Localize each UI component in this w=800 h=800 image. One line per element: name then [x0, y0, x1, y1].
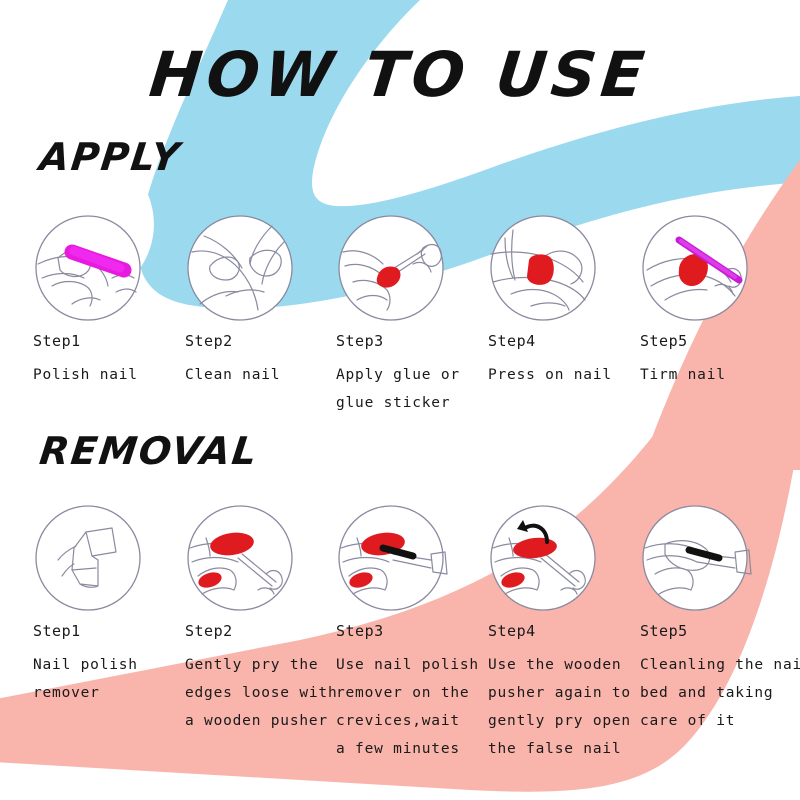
step-description: Gently pry the edges loose with a wooden… — [185, 651, 318, 736]
step-label: Step5 — [640, 623, 773, 640]
step-label: Step3 — [336, 623, 469, 640]
how-to-use-poster: HOW TO USE APPLY REMOVAL — [0, 0, 800, 800]
step-card-removal-4: Step4 Use the wooden pusher again to gen… — [469, 498, 621, 764]
step-card-removal-1: Step1 Nail polish remover — [14, 498, 166, 707]
step-card-apply-4: Step4 Press on nail — [469, 208, 621, 389]
step-card-removal-3: Step3 Use nail polish remover on the cre… — [317, 498, 469, 764]
step-description: Press on nail — [488, 361, 621, 389]
step-description: Nail polish remover — [33, 651, 166, 708]
step-label: Step2 — [185, 623, 318, 640]
step-description: Use nail polish remover on the crevices,… — [336, 651, 469, 764]
step-card-apply-5: Step5 Tirm nail — [621, 208, 773, 389]
step-card-apply-2: Step2 Clean nail — [166, 208, 318, 389]
step-card-removal-5: Step5 Cleanling the nail bed and taking … — [621, 498, 773, 735]
step-label: Step4 — [488, 623, 621, 640]
step-card-removal-2: Step2 Gently pry the edges loose with a … — [166, 498, 318, 735]
step-description: Tirm nail — [640, 361, 773, 389]
step-card-apply-3: Step3 Apply glue or glue sticker — [317, 208, 469, 417]
nail-polish-remover-bottle-icon — [28, 498, 148, 618]
step-label: Step1 — [33, 333, 166, 350]
step-description: Apply glue or glue sticker — [336, 361, 469, 418]
step-description: Use the wooden pusher again to gently pr… — [488, 651, 621, 764]
apply-glue-icon — [331, 208, 451, 328]
clean-nail-icon — [180, 208, 300, 328]
step-description: Clean nail — [185, 361, 318, 389]
step-description: Polish nail — [33, 361, 166, 389]
apply-remover-icon — [331, 498, 451, 618]
step-label: Step2 — [185, 333, 318, 350]
trim-nail-icon — [635, 208, 755, 328]
step-label: Step5 — [640, 333, 773, 350]
step-card-apply-1: Step1 Polish nail — [14, 208, 166, 389]
clean-nail-bed-icon — [635, 498, 755, 618]
section-heading-apply: APPLY — [38, 138, 184, 176]
page-title: HOW TO USE — [147, 44, 652, 106]
pry-edges-icon — [180, 498, 300, 618]
pry-open-false-nail-icon — [483, 498, 603, 618]
step-label: Step4 — [488, 333, 621, 350]
step-label: Step3 — [336, 333, 469, 350]
step-label: Step1 — [33, 623, 166, 640]
step-description: Cleanling the nail bed and taking care o… — [640, 651, 773, 736]
polish-nail-icon — [28, 208, 148, 328]
press-on-nail-icon — [483, 208, 603, 328]
section-heading-removal: REMOVAL — [38, 432, 261, 470]
